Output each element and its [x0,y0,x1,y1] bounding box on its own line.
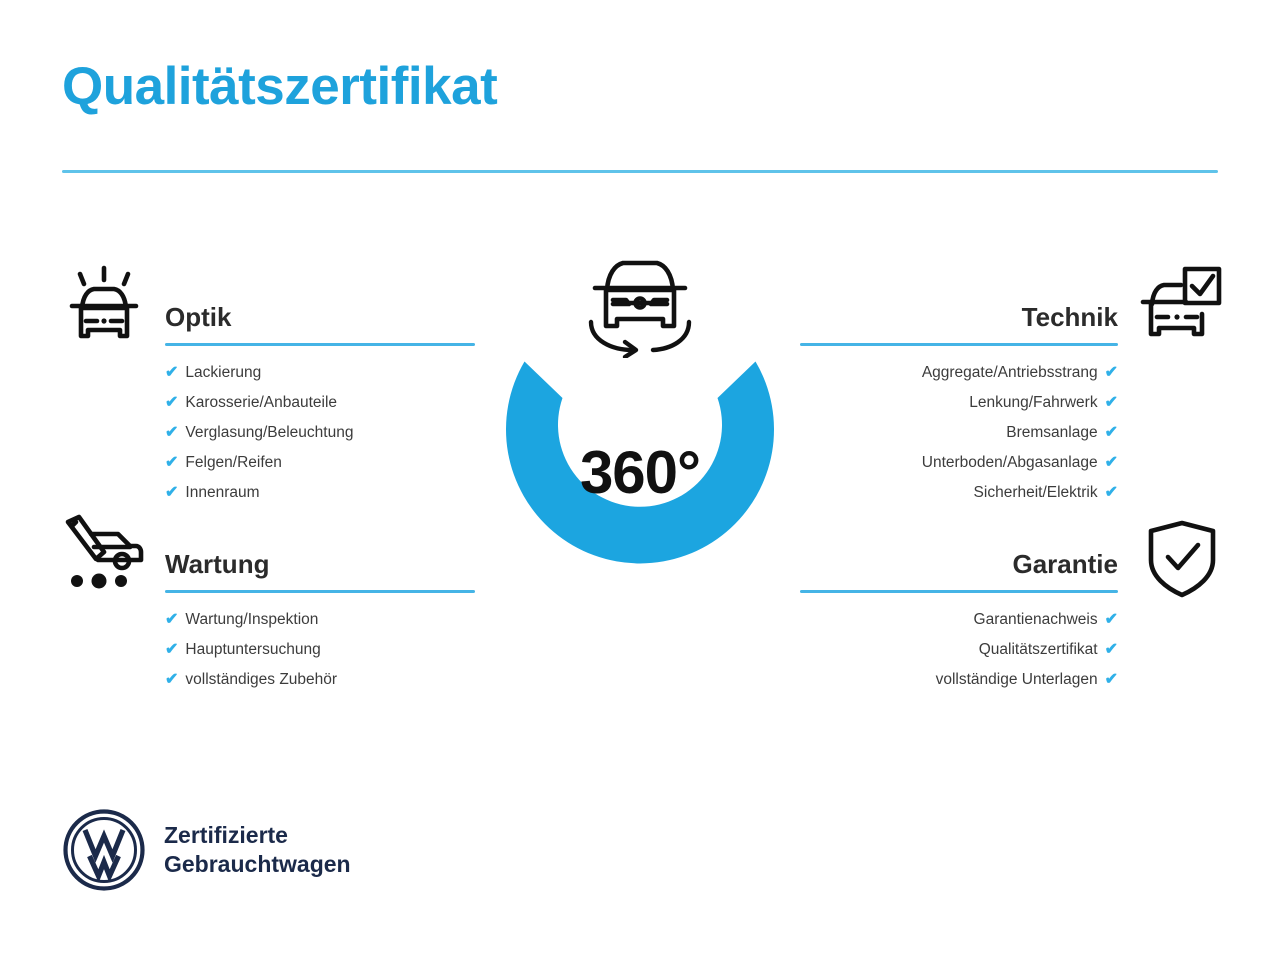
check-icon: ✔ [165,605,178,635]
footer-logo-text: Zertifizierte Gebrauchtwagen [164,821,351,879]
list-item: vollständige Unterlagen✔ [800,665,1118,695]
list-item-label: Wartung/Inspektion [185,605,318,635]
section-header: Wartung [165,547,475,593]
section-optik: Optik ✔Lackierung ✔Karosserie/Anbauteile… [165,300,475,508]
list-item-label: Qualitätszertifikat [979,635,1098,665]
list-item: ✔Karosserie/Anbauteile [165,388,475,418]
section-header: Technik [800,300,1118,346]
list-item-label: Lenkung/Fahrwerk [969,388,1097,418]
check-icon: ✔ [1105,418,1118,448]
wrench-car-icon [58,508,150,600]
list-item: ✔Hauptuntersuchung [165,635,475,665]
section-title: Optik [165,300,475,334]
list-item: ✔Innenraum [165,478,475,508]
section-title: Wartung [165,547,475,581]
list-item: ✔Verglasung/Beleuchtung [165,418,475,448]
list-item-label: Aggregate/Antriebsstrang [922,358,1098,388]
list-item: Garantienachweis✔ [800,605,1118,635]
check-icon: ✔ [165,448,178,478]
list-item: ✔Lackierung [165,358,475,388]
check-icon: ✔ [1105,478,1118,508]
check-icon: ✔ [1105,635,1118,665]
section-header: Garantie [800,547,1118,593]
list-item-label: Innenraum [185,478,259,508]
list-item-label: Lackierung [185,358,261,388]
page-title: Qualitätszertifikat [62,58,497,116]
car-checkbox-icon [1134,262,1226,354]
section-underline [800,343,1118,346]
car-shine-icon [58,262,150,354]
section-underline [800,590,1118,593]
shield-check-icon [1136,512,1228,604]
checklist-garantie: Garantienachweis✔ Qualitätszertifikat✔ v… [800,605,1118,695]
section-technik: Technik Aggregate/Antriebsstrang✔ Lenkun… [800,300,1118,508]
check-icon: ✔ [1105,388,1118,418]
check-icon: ✔ [165,388,178,418]
section-wartung: Wartung ✔Wartung/Inspektion ✔Hauptunters… [165,547,475,695]
list-item-label: Unterboden/Abgasanlage [922,448,1098,478]
list-item: Lenkung/Fahrwerk✔ [800,388,1118,418]
list-item: Unterboden/Abgasanlage✔ [800,448,1118,478]
vw-logo-icon [62,808,146,892]
list-item: Sicherheit/Elektrik✔ [800,478,1118,508]
header-divider [62,170,1218,173]
section-title: Technik [800,300,1118,334]
checklist-technik: Aggregate/Antriebsstrang✔ Lenkung/Fahrwe… [800,358,1118,508]
check-icon: ✔ [165,418,178,448]
badge-center-label: 360° [466,442,814,504]
list-item-label: vollständiges Zubehör [185,665,337,695]
check-icon: ✔ [1105,665,1118,695]
list-item-label: Hauptuntersuchung [185,635,320,665]
list-item: Qualitätszertifikat✔ [800,635,1118,665]
list-item-label: Garantienachweis [974,605,1098,635]
footer-logo: Zertifizierte Gebrauchtwagen [62,808,351,892]
footer-logo-line2: Gebrauchtwagen [164,850,351,879]
checklist-wartung: ✔Wartung/Inspektion ✔Hauptuntersuchung ✔… [165,605,475,695]
list-item: ✔vollständiges Zubehör [165,665,475,695]
car-front-rotate-icon [573,246,707,358]
section-underline [165,590,475,593]
list-item: Bremsanlage✔ [800,418,1118,448]
check-icon: ✔ [1105,358,1118,388]
check-icon: ✔ [165,665,178,695]
section-header: Optik [165,300,475,346]
checklist-optik: ✔Lackierung ✔Karosserie/Anbauteile ✔Verg… [165,358,475,508]
footer-logo-line1: Zertifizierte [164,821,351,850]
section-underline [165,343,475,346]
list-item-label: Felgen/Reifen [185,448,282,478]
check-icon: ✔ [165,358,178,388]
badge-360-check: Gebrauchtwagen-Check 360° [466,246,814,632]
list-item-label: Verglasung/Beleuchtung [185,418,353,448]
section-garantie: Garantie Garantienachweis✔ Qualitätszert… [800,547,1118,695]
check-icon: ✔ [165,478,178,508]
list-item: Aggregate/Antriebsstrang✔ [800,358,1118,388]
section-title: Garantie [800,547,1118,581]
list-item-label: Sicherheit/Elektrik [974,478,1098,508]
list-item: ✔Felgen/Reifen [165,448,475,478]
list-item: ✔Wartung/Inspektion [165,605,475,635]
list-item-label: Bremsanlage [1006,418,1097,448]
list-item-label: vollständige Unterlagen [936,665,1098,695]
check-icon: ✔ [1105,605,1118,635]
check-icon: ✔ [1105,448,1118,478]
list-item-label: Karosserie/Anbauteile [185,388,337,418]
check-icon: ✔ [165,635,178,665]
